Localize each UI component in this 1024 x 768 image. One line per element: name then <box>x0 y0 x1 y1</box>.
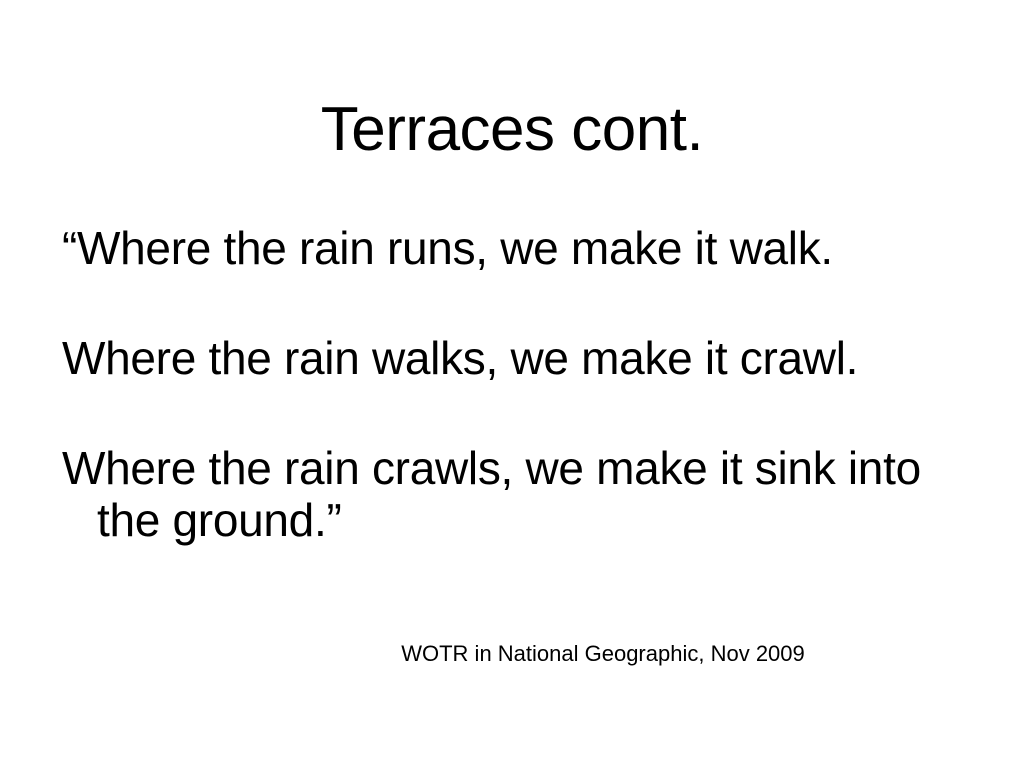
slide-title: Terraces cont. <box>0 97 1024 162</box>
slide-body: “Where the rain runs, we make it walk. W… <box>62 222 962 546</box>
slide-canvas: Terraces cont. “Where the rain runs, we … <box>0 0 1024 768</box>
body-line-2: Where the rain walks, we make it crawl. <box>62 332 962 384</box>
body-line-1: “Where the rain runs, we make it walk. <box>62 222 962 274</box>
source-citation: WOTR in National Geographic, Nov 2009 <box>91 641 1024 667</box>
body-line-3: Where the rain crawls, we make it sink i… <box>62 442 962 546</box>
